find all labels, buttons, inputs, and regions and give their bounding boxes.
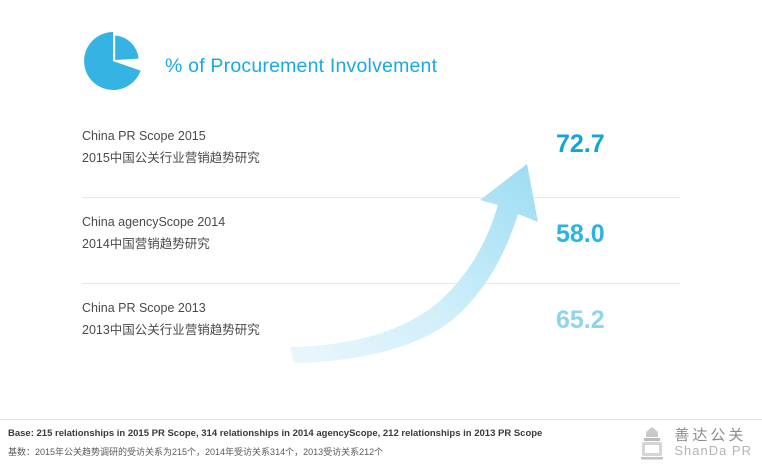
row-label-en: China PR Scope 2013: [82, 297, 260, 319]
page-title: % of Procurement Involvement: [165, 55, 437, 78]
row-value: 72.7: [556, 130, 605, 159]
brand-name-cn: 善达公关: [674, 427, 752, 444]
row-value: 65.2: [556, 306, 605, 335]
footer-base-en: Base: 215 relationships in 2015 PR Scope…: [8, 428, 542, 439]
row-label-group: China agencyScope 2014 2014中国营销趋势研究: [82, 211, 225, 255]
footer-base-cn: 基数：2015年公关趋势调研的受访关系为215个，2014年受访关系314个，2…: [8, 445, 383, 458]
slide-root: % of Procurement Involvement China PR Sc…: [0, 0, 762, 469]
slide-header: % of Procurement Involvement: [0, 0, 762, 112]
brand-logo: 善达公关 ShanDa PR: [638, 425, 752, 461]
row-label-group: China PR Scope 2013 2013中国公关行业营销趋势研究: [82, 297, 260, 341]
row-value: 58.0: [556, 220, 605, 249]
chart-row: China PR Scope 2015 2015中国公关行业营销趋势研究 72.…: [0, 112, 762, 198]
row-label-cn: 2013中国公关行业营销趋势研究: [82, 319, 260, 341]
row-label-group: China PR Scope 2015 2015中国公关行业营销趋势研究: [82, 125, 260, 169]
row-label-en: China agencyScope 2014: [82, 211, 225, 233]
chart-row: China agencyScope 2014 2014中国营销趋势研究 58.0: [0, 198, 762, 284]
slide-footer: Base: 215 relationships in 2015 PR Scope…: [0, 419, 762, 469]
brand-name-en: ShanDa PR: [674, 444, 752, 459]
shanda-seal-icon: [638, 425, 666, 461]
chart-rows: China PR Scope 2015 2015中国公关行业营销趋势研究 72.…: [0, 112, 762, 370]
row-label-cn: 2014中国营销趋势研究: [82, 233, 225, 255]
pie-chart-icon: [82, 30, 144, 92]
row-label-cn: 2015中国公关行业营销趋势研究: [82, 147, 260, 169]
brand-text: 善达公关 ShanDa PR: [674, 427, 752, 459]
footer-divider: [0, 419, 762, 420]
chart-row: China PR Scope 2013 2013中国公关行业营销趋势研究 65.…: [0, 284, 762, 370]
row-label-en: China PR Scope 2015: [82, 125, 260, 147]
